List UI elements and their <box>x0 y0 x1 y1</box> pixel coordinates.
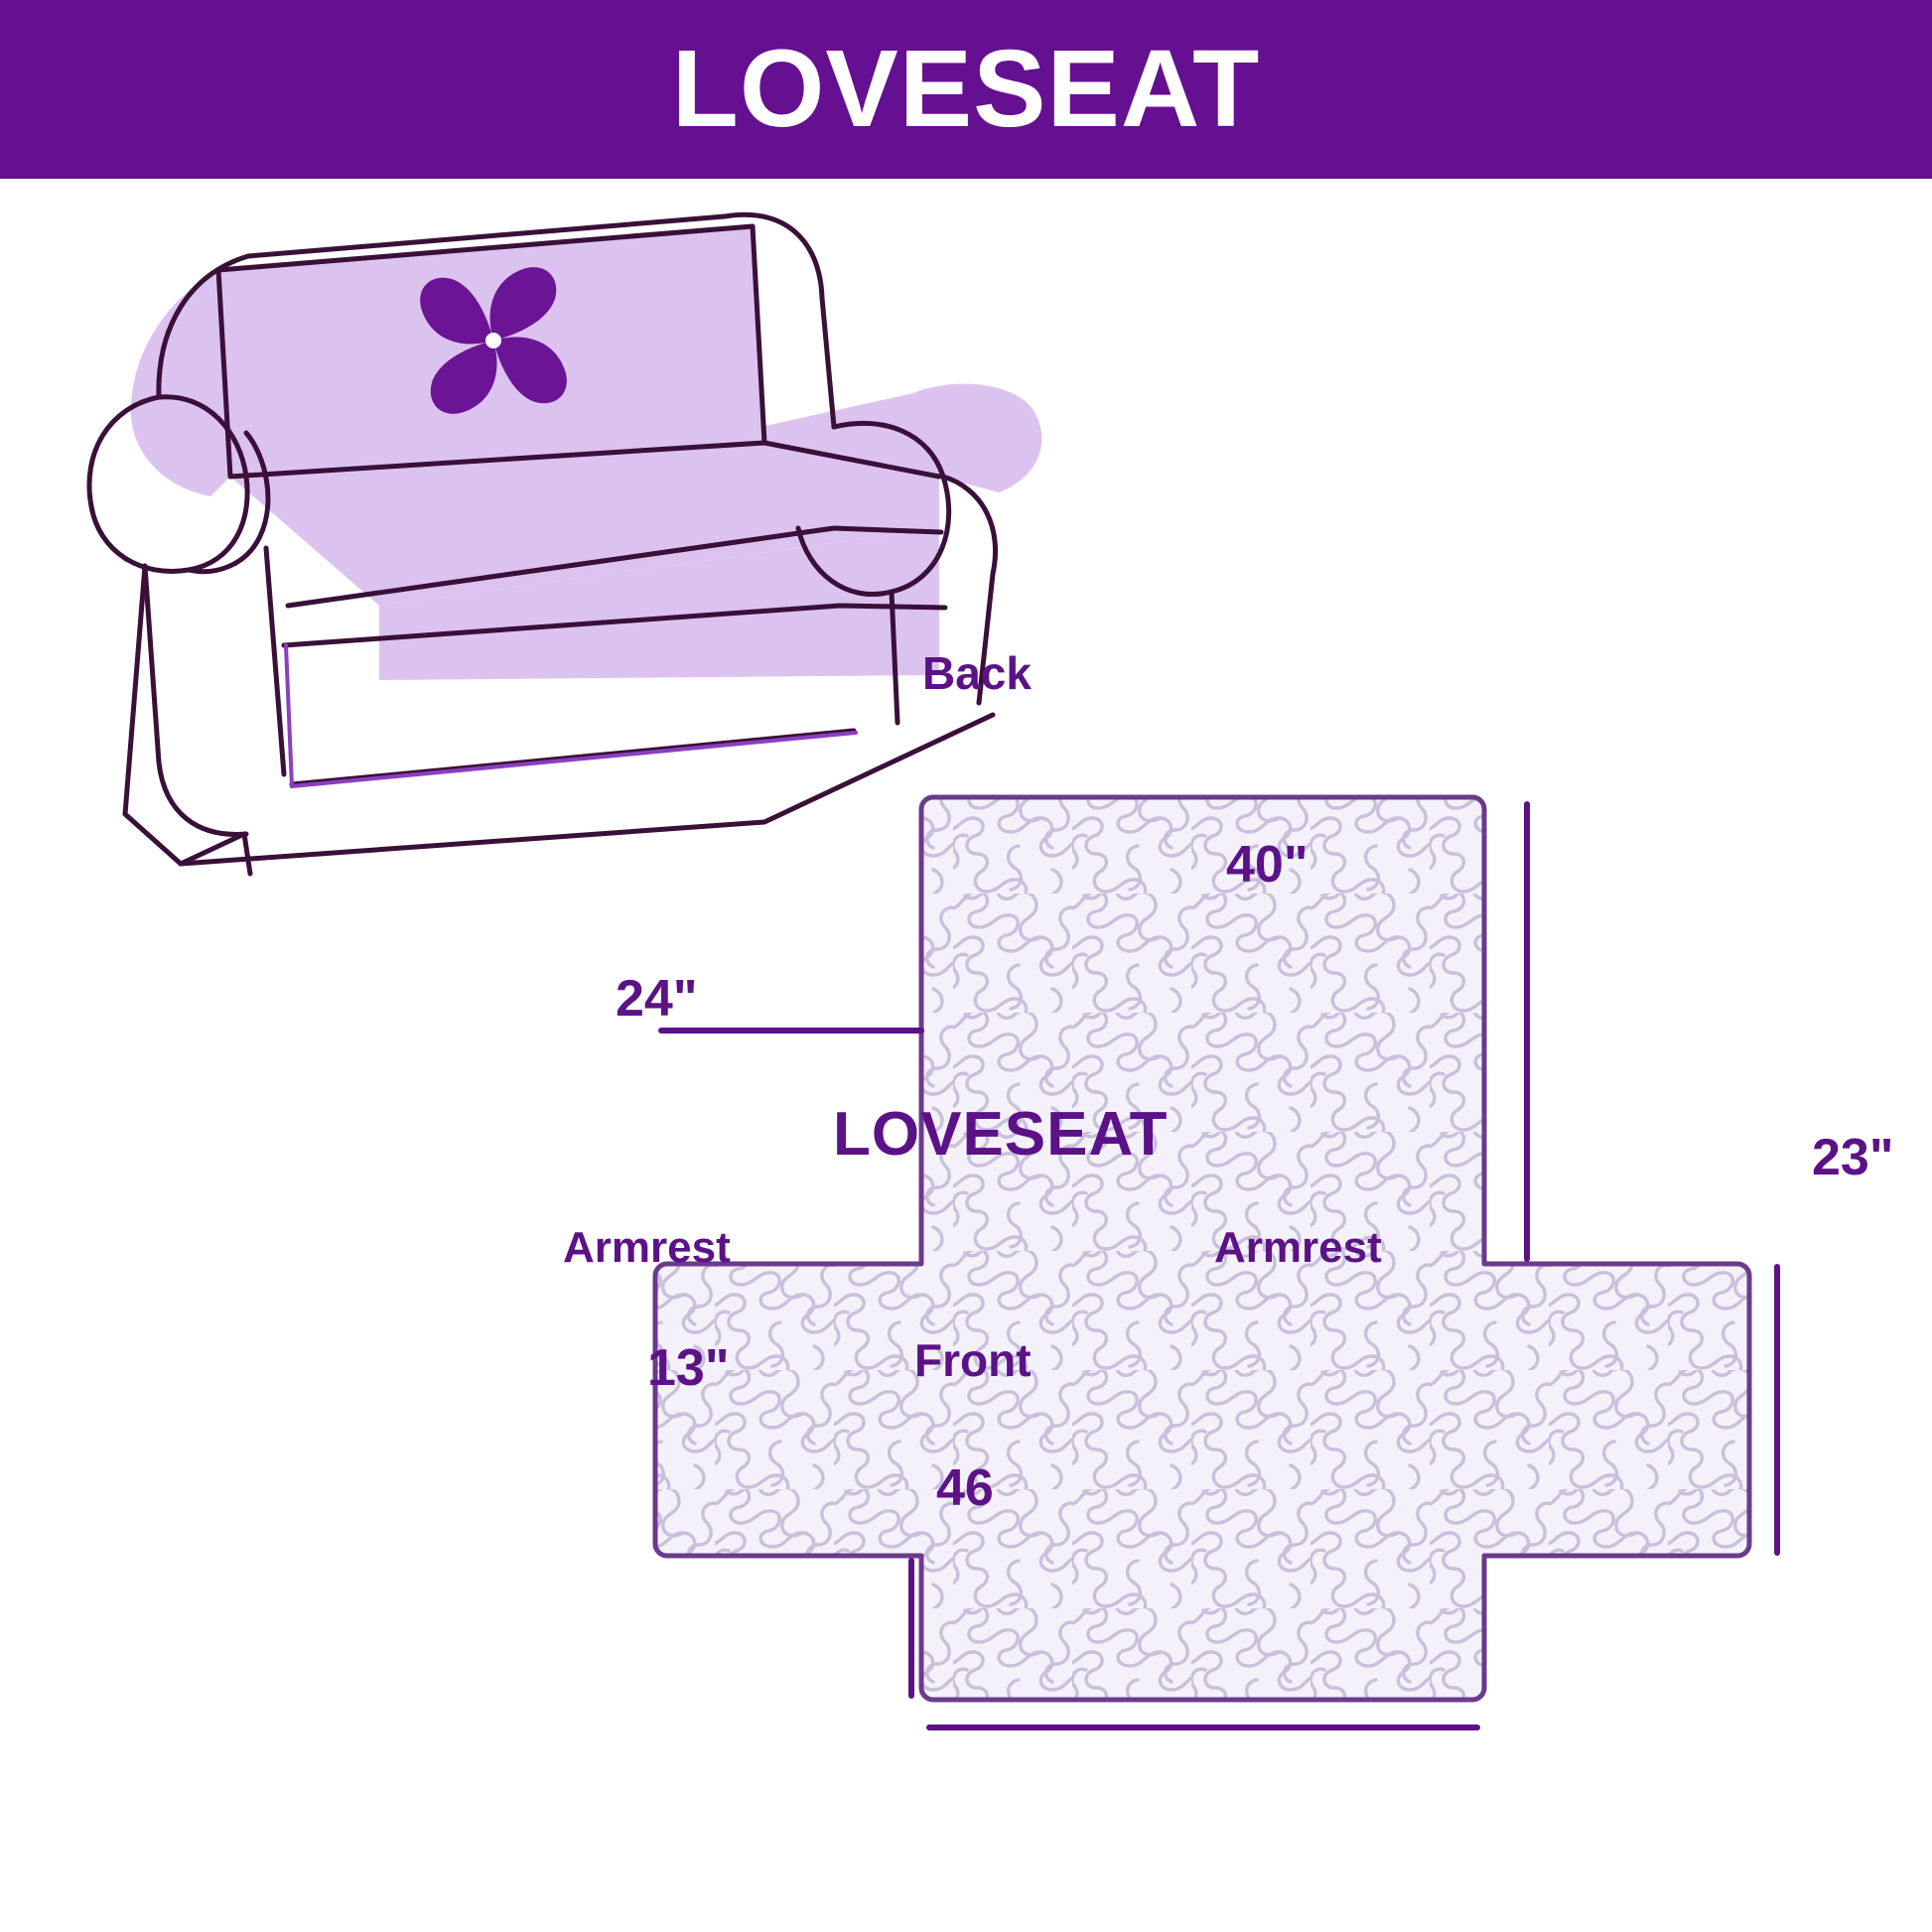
page-title: LOVESEAT <box>672 35 1261 144</box>
sofa-base-foot-left <box>244 834 250 874</box>
dimension-label-total-width: 46 <box>936 1462 994 1514</box>
sofa-left-arm-crease <box>266 548 284 774</box>
sofa-left-arm-face <box>145 566 246 834</box>
sofa-cover-hem-left <box>286 645 292 786</box>
dimension-label-front-height: 13" <box>647 1342 730 1394</box>
panel-label-armrest-right: Armrest <box>1214 1226 1382 1270</box>
panel-label-front: Front <box>914 1337 1032 1383</box>
sofa-base-front <box>181 715 993 864</box>
dimension-label-back-width: 24" <box>616 973 698 1025</box>
panel-label-armrest-left: Armrest <box>563 1226 731 1270</box>
page-header-banner: LOVESEAT <box>0 0 1932 179</box>
panel-label-center: LOVESEAT <box>833 1104 1169 1166</box>
sofa-illustration <box>89 214 1041 874</box>
cover-outline-path <box>655 797 1749 1700</box>
diagram-stage: Back LOVESEAT Armrest Armrest Front 24" … <box>0 179 1932 1932</box>
sofa-skirt-hem <box>292 731 854 784</box>
sofa-cover-hem-highlight <box>292 733 856 786</box>
panel-label-back: Back <box>922 650 1032 696</box>
dimension-label-armrest-depth: 23" <box>1812 1132 1894 1183</box>
diagram-canvas <box>0 179 1932 1932</box>
cover-cross-diagram <box>655 797 1749 1700</box>
dimension-label-back-height: 40" <box>1226 839 1309 891</box>
